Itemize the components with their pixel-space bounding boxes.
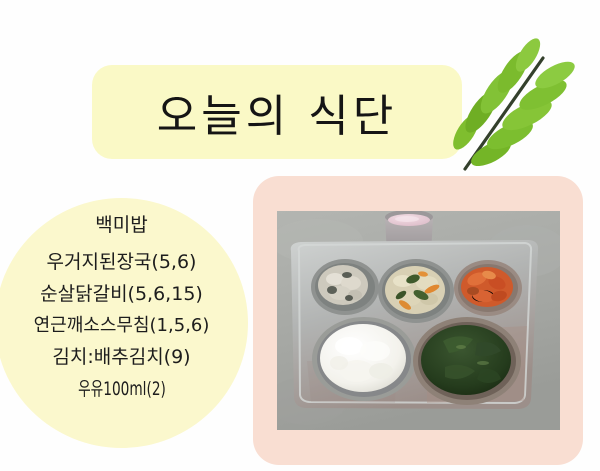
page-title: 오늘의 식단 bbox=[92, 65, 462, 159]
menu-item-milk: 우유100ml(2) bbox=[78, 380, 166, 399]
menu-item-lotus: 연근깨소스무침(1,5,6) bbox=[34, 317, 210, 335]
menu-item-chicken: 순살닭갈비(5,6,15) bbox=[40, 285, 203, 304]
menu-list: 백미밥 우거지된장국(5,6) 순살닭갈비(5,6,15) 연근깨소스무침(1,… bbox=[0, 198, 248, 448]
lunch-tray-photo bbox=[277, 211, 560, 430]
menu-item-kimchi: 김치:배추김치(9) bbox=[52, 348, 190, 367]
lunch-menu-poster: 오늘의 식단 백미밥 우거지된장국(5,6) 순살닭갈비(5,6,15) 연근깨… bbox=[0, 0, 600, 471]
menu-item-soup: 우거지된장국(5,6) bbox=[47, 253, 197, 272]
leaf-branch-icon bbox=[447, 36, 577, 176]
menu-item-rice: 백미밥 bbox=[95, 216, 147, 235]
